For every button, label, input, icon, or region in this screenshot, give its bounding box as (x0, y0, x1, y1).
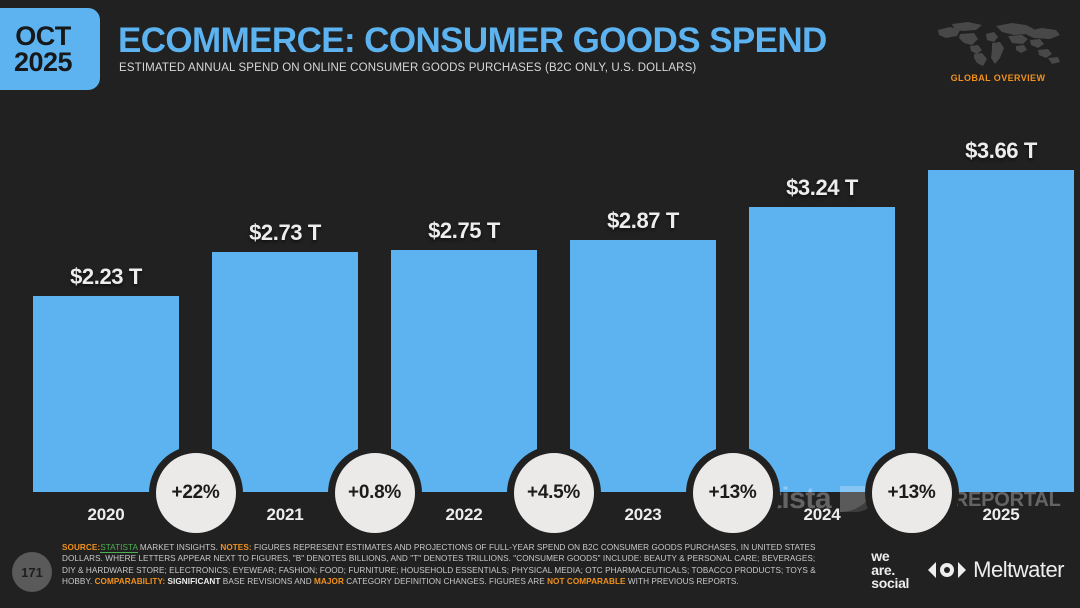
bar-value-label: $2.23 T (33, 264, 179, 290)
notes-major: MAJOR (314, 577, 344, 586)
source-label: SOURCE: (62, 543, 100, 552)
footnotes: SOURCE:STATISTA MARKET INSIGHTS. NOTES: … (62, 542, 822, 587)
source-suffix: MARKET INSIGHTS. (138, 543, 221, 552)
notes-not-comparable: NOT COMPARABLE (547, 577, 625, 586)
bar-value-label: $2.73 T (212, 220, 358, 246)
we-are-social-logo: we are. social (871, 550, 909, 591)
date-badge-month: OCT (15, 23, 71, 49)
we-are-social-line3: social (871, 577, 909, 591)
bar[interactable] (928, 170, 1074, 492)
world-map-icon (930, 16, 1066, 70)
global-overview-block: GLOBAL OVERVIEW (928, 16, 1068, 83)
notes-label: NOTES: (220, 543, 251, 552)
bar[interactable] (212, 252, 358, 492)
brand-logos: we are. social Meltwater (871, 550, 1064, 591)
bar-value-label: $3.24 T (749, 175, 895, 201)
bar[interactable] (570, 240, 716, 492)
bar-value-label: $3.66 T (928, 138, 1074, 164)
date-badge-year: 2025 (14, 49, 72, 76)
page-title: ECOMMERCE: CONSUMER GOODS SPEND (118, 21, 827, 61)
date-badge: OCT 2025 (0, 8, 100, 90)
bar[interactable] (749, 207, 895, 492)
meltwater-logo: Meltwater (927, 557, 1064, 583)
change-badge: +22% (149, 446, 243, 540)
bar-chart: statista DATAREPORTAL $2.23 T2020$2.73 T… (0, 104, 1080, 538)
global-overview-label: GLOBAL OVERVIEW (928, 73, 1068, 83)
header: OCT 2025 ECOMMERCE: CONSUMER GOODS SPEND… (0, 0, 1080, 104)
bar-value-label: $2.75 T (391, 218, 537, 244)
change-badge: +13% (865, 446, 959, 540)
change-badge: +0.8% (328, 446, 422, 540)
bar-value-label: $2.87 T (570, 208, 716, 234)
notes-significant: SIGNIFICANT (168, 577, 221, 586)
comparability-label: COMPARABILITY: (95, 577, 166, 586)
change-badge: +13% (686, 446, 780, 540)
page-number-badge: 171 (12, 552, 52, 592)
page-subtitle: ESTIMATED ANNUAL SPEND ON ONLINE CONSUME… (119, 62, 696, 74)
footer: 171 SOURCE:STATISTA MARKET INSIGHTS. NOT… (0, 538, 1080, 608)
notes-body-4: WITH PREVIOUS REPORTS. (626, 577, 739, 586)
source-name[interactable]: STATISTA (100, 543, 137, 553)
notes-body-3: CATEGORY DEFINITION CHANGES. FIGURES ARE (344, 577, 547, 586)
bar[interactable] (391, 250, 537, 492)
meltwater-logo-text: Meltwater (973, 557, 1064, 583)
notes-body-2: BASE REVISIONS AND (220, 577, 314, 586)
bar[interactable] (33, 296, 179, 492)
meltwater-eye-icon (927, 560, 967, 580)
change-badge: +4.5% (507, 446, 601, 540)
